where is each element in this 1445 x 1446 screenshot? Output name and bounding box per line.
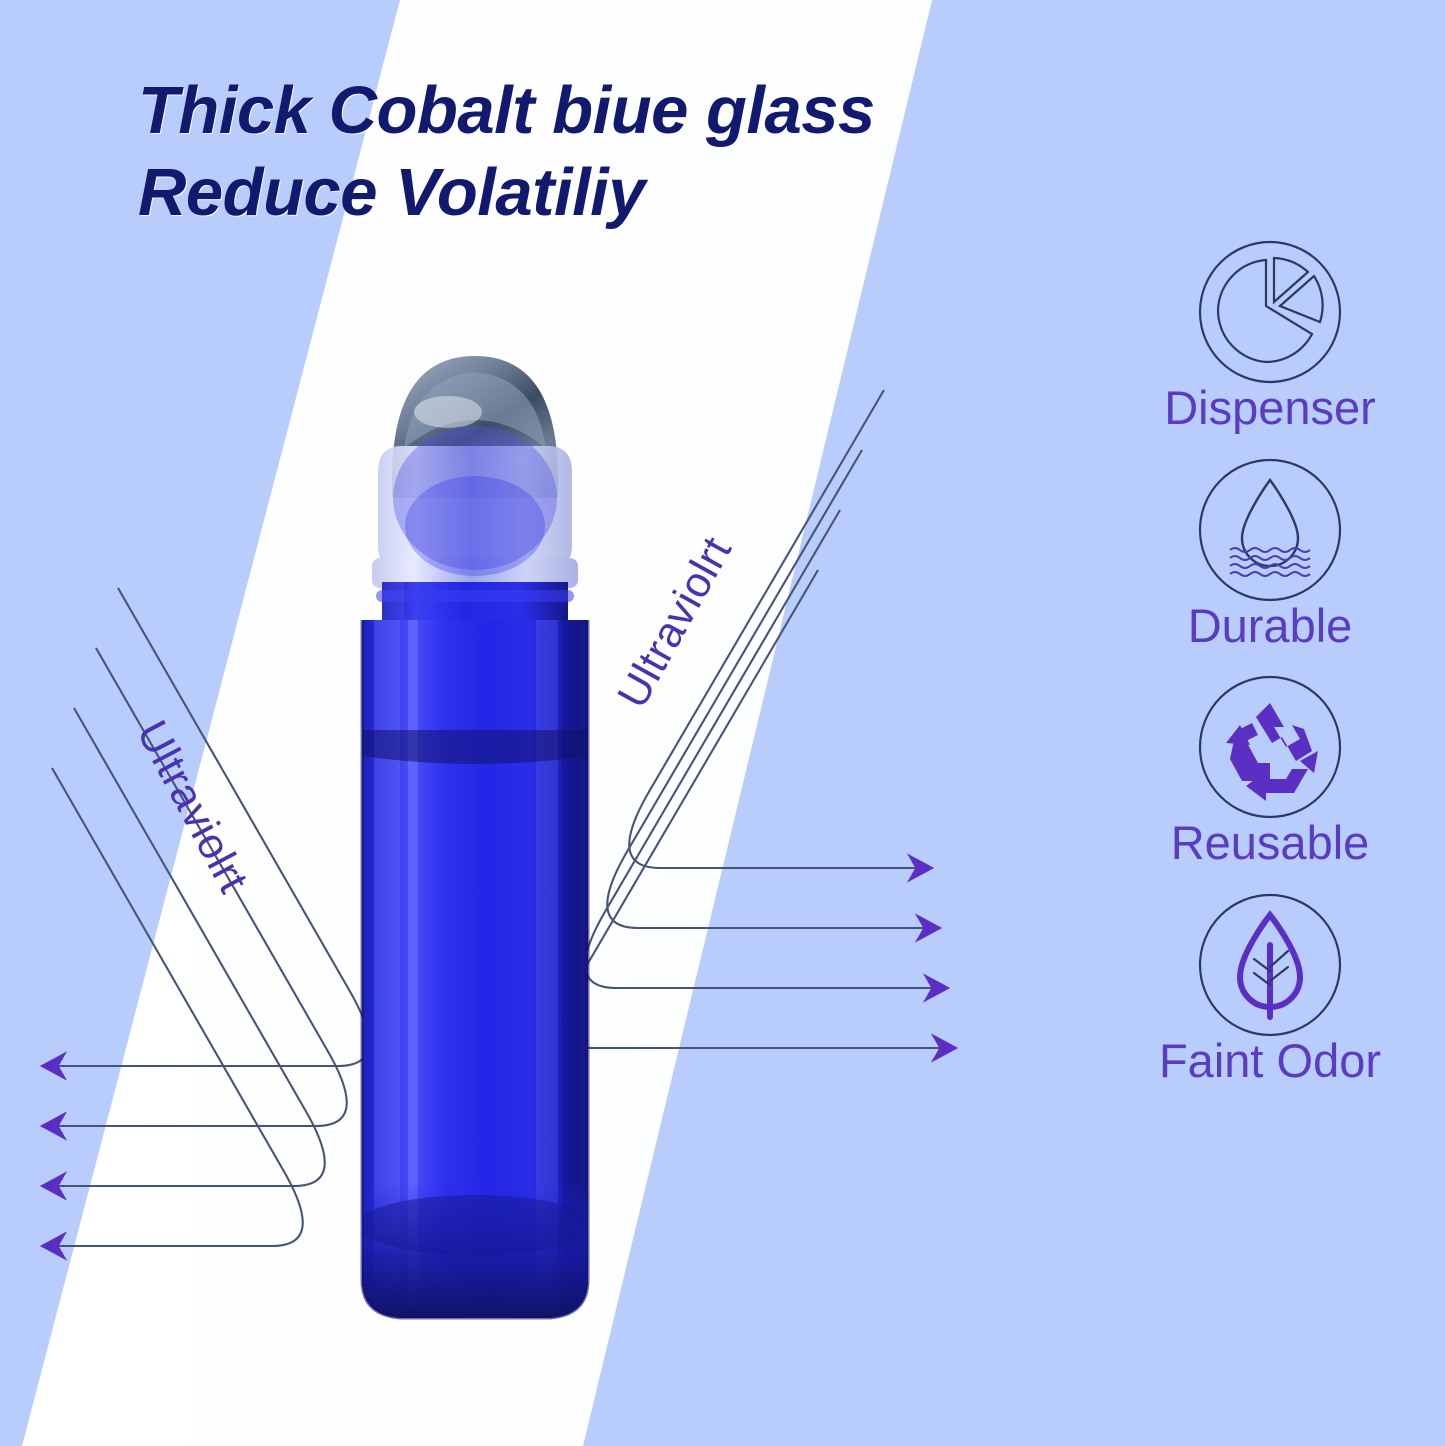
ray-right-4 <box>563 570 954 1048</box>
feature-item-dispenser[interactable]: Dispenser <box>1100 238 1440 434</box>
feature-label: Dispenser <box>1100 382 1440 434</box>
feature-label: Reusable <box>1100 817 1440 869</box>
ray-group-left <box>44 588 369 1246</box>
feature-label: Faint Odor <box>1100 1035 1440 1087</box>
feature-item-faint-odor[interactable]: Faint Odor <box>1100 891 1440 1087</box>
ray-right-3 <box>585 510 946 988</box>
roller-bottle-image <box>330 320 620 1320</box>
feature-label: Durable <box>1100 600 1440 652</box>
leaf-icon <box>1196 891 1344 1039</box>
cap-housing <box>372 426 578 588</box>
recycle-icon <box>1196 673 1344 821</box>
infographic-canvas: Thick Cobalt biue glass Reduce Volatiliy… <box>0 0 1445 1446</box>
feature-item-reusable[interactable]: Reusable <box>1100 673 1440 869</box>
feature-list: Dispenser Durable <box>1100 238 1440 1095</box>
pie-chart-icon <box>1196 238 1344 386</box>
bottle-body <box>357 620 593 1320</box>
ray-left-2 <box>44 648 347 1126</box>
water-drop-icon <box>1196 456 1344 604</box>
feature-item-durable[interactable]: Durable <box>1100 456 1440 652</box>
ray-group-right <box>563 390 954 1048</box>
